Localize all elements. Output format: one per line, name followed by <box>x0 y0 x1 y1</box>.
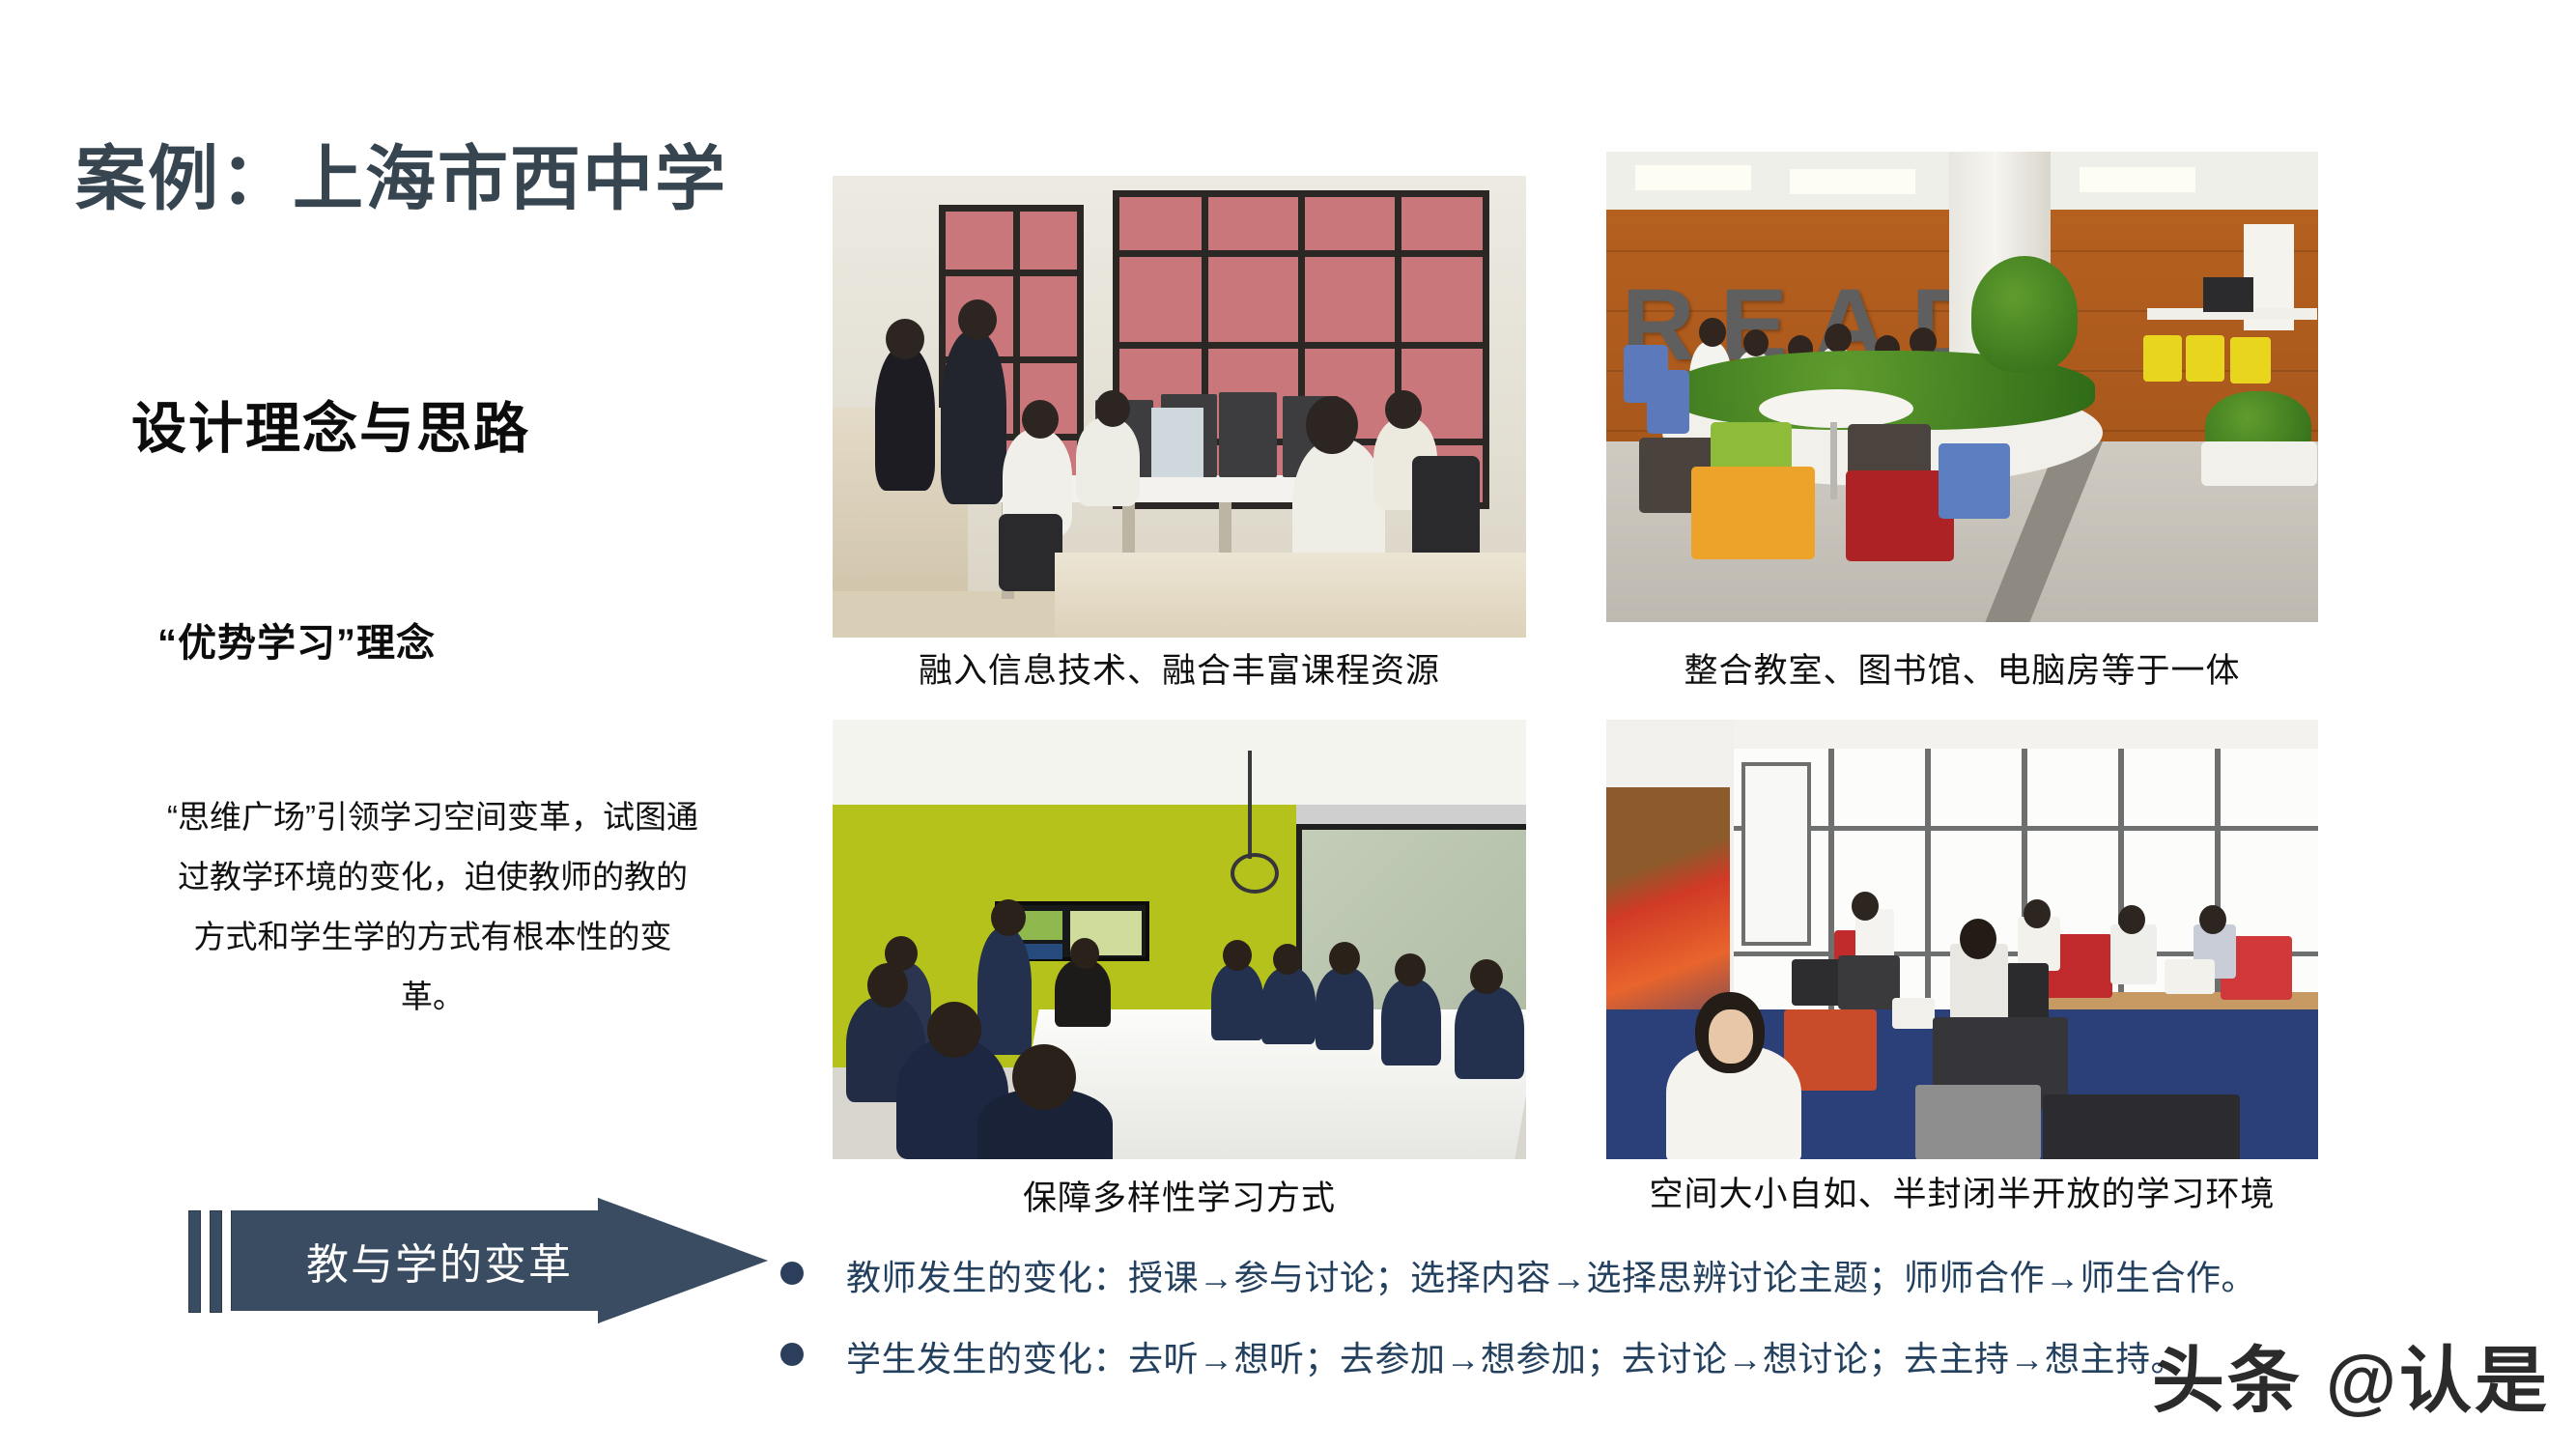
seminar-presenter-head <box>991 899 1026 936</box>
library-student-head <box>1825 324 1852 353</box>
seminar-student-head <box>1273 944 1302 975</box>
bar-chair-yellow <box>2230 337 2271 384</box>
list-item: 教师发生的变化：授课→参与讨论；选择内容→选择思辨讨论主题；师师合作→师生合作。 <box>780 1250 2519 1300</box>
lounge-sofa-dark <box>2043 1094 2240 1159</box>
seminar-student <box>1455 986 1524 1079</box>
section-heading: 设计理念与思路 <box>131 384 530 464</box>
lab-student-head <box>1306 396 1358 454</box>
lounge-person-head <box>2118 905 2145 934</box>
watermark: 头条 @认是 <box>2152 1321 2550 1427</box>
pendant-shade <box>1231 853 1279 894</box>
library-student-head <box>1699 318 1726 347</box>
lounge-person-head <box>2024 899 2051 928</box>
lab-person <box>941 330 1006 504</box>
lab-chair <box>1412 456 1480 564</box>
lab-person-head <box>886 319 924 359</box>
photo-library: READ <box>1606 152 2318 622</box>
lab-student-head <box>1385 390 1422 429</box>
seminar-student-head <box>1223 940 1252 971</box>
lounge-armchair-dark <box>2006 963 2049 1023</box>
seminar-presenter <box>977 927 1032 1055</box>
bullet-text: 教师发生的变化：授课→参与讨论；选择内容→选择思辨讨论主题；师师合作→师生合作。 <box>846 1250 2256 1300</box>
seminar-student-head <box>927 1002 981 1058</box>
ceiling-light <box>1790 169 1915 194</box>
seminar-student <box>1381 979 1441 1065</box>
seminar-teacher <box>1055 959 1111 1027</box>
concept-heading: “优势学习”理念 <box>157 611 436 668</box>
ottoman-blue <box>1647 370 1689 434</box>
seminar-student <box>1261 967 1316 1044</box>
slide-canvas: 案例：上海市西中学 设计理念与思路 “优势学习”理念 “思维广场”引领学习空间变… <box>0 0 2576 1449</box>
lab-monitor <box>1219 392 1277 477</box>
lab-student-head <box>1022 400 1059 439</box>
arrow-label: 教与学的变革 <box>295 1198 584 1323</box>
ottoman-blue <box>1939 443 2010 519</box>
lab-monitor-screen <box>1151 408 1203 477</box>
lab-person-head <box>958 299 997 340</box>
lounge-foreground-face <box>1709 1009 1753 1064</box>
lounge-person-head <box>2199 905 2226 934</box>
lab-student-head <box>1095 390 1130 427</box>
bullet-dot-icon <box>780 1262 804 1285</box>
seminar-student-head <box>1012 1044 1076 1110</box>
library-monitor <box>2203 277 2253 312</box>
photo-caption: 融入信息技术、融合丰富课程资源 <box>833 643 1526 693</box>
ottoman-orange <box>1691 467 1815 559</box>
lounge-person-head <box>1960 919 1996 959</box>
photo-lounge <box>1606 720 2318 1159</box>
lounge-armchair-dark <box>1838 955 1900 1009</box>
concept-body-text: “思维广场”引领学习空间变革，试图通过教学环境的变化，迫使教师的教的方式和学生学… <box>162 787 703 1027</box>
photo-caption: 保障多样性学习方式 <box>833 1171 1526 1220</box>
lab-counter-front <box>1055 553 1526 638</box>
pendant-lamp <box>1248 751 1252 859</box>
page-title: 案例：上海市西中学 <box>75 122 727 224</box>
photo-seminar-room <box>833 720 1526 1159</box>
seminar-student-head <box>1470 959 1503 994</box>
seminar-student-head <box>867 963 908 1008</box>
table-stem <box>1830 422 1837 499</box>
seminar-student-head <box>1395 953 1426 986</box>
lounge-round-table <box>1892 998 1935 1029</box>
seminar-student-head <box>1329 942 1360 975</box>
ceiling-light <box>2080 167 2195 192</box>
library-student-head <box>1743 329 1769 356</box>
seminar-student <box>1316 967 1373 1050</box>
lab-person <box>875 346 935 491</box>
lounge-ottoman-grey <box>1915 1085 2041 1159</box>
lounge-side-table <box>2165 959 2215 994</box>
library-planter-right <box>2201 441 2317 486</box>
lounge-person-head <box>1852 892 1879 921</box>
seminar-student <box>1211 963 1263 1040</box>
photo-caption: 空间大小自如、半封闭半开放的学习环境 <box>1606 1167 2318 1216</box>
bar-chair-yellow <box>2143 335 2182 382</box>
arrow-banner: 教与学的变革 <box>188 1198 768 1323</box>
bullet-dot-icon <box>780 1343 804 1366</box>
photo-computer-lab <box>833 176 1526 638</box>
arrow-accent-bar-1 <box>188 1210 201 1313</box>
bullet-text: 学生发生的变化：去听→想听；去参加→想参加；去讨论→想讨论；去主持→想主持。 <box>846 1331 2186 1381</box>
seminar-ceiling <box>833 720 1526 805</box>
photo-caption: 整合教室、图书馆、电脑房等于一体 <box>1606 643 2318 693</box>
seminar-teacher-head <box>1070 938 1099 969</box>
lab-chair <box>999 514 1062 591</box>
lab-student <box>1076 417 1140 506</box>
ceiling-light <box>1635 165 1751 190</box>
library-tall-plant <box>1971 256 2078 372</box>
arrow-accent-bar-2 <box>210 1210 222 1313</box>
lounge-small-window <box>1741 762 1811 946</box>
bar-chair-yellow <box>2186 335 2224 382</box>
